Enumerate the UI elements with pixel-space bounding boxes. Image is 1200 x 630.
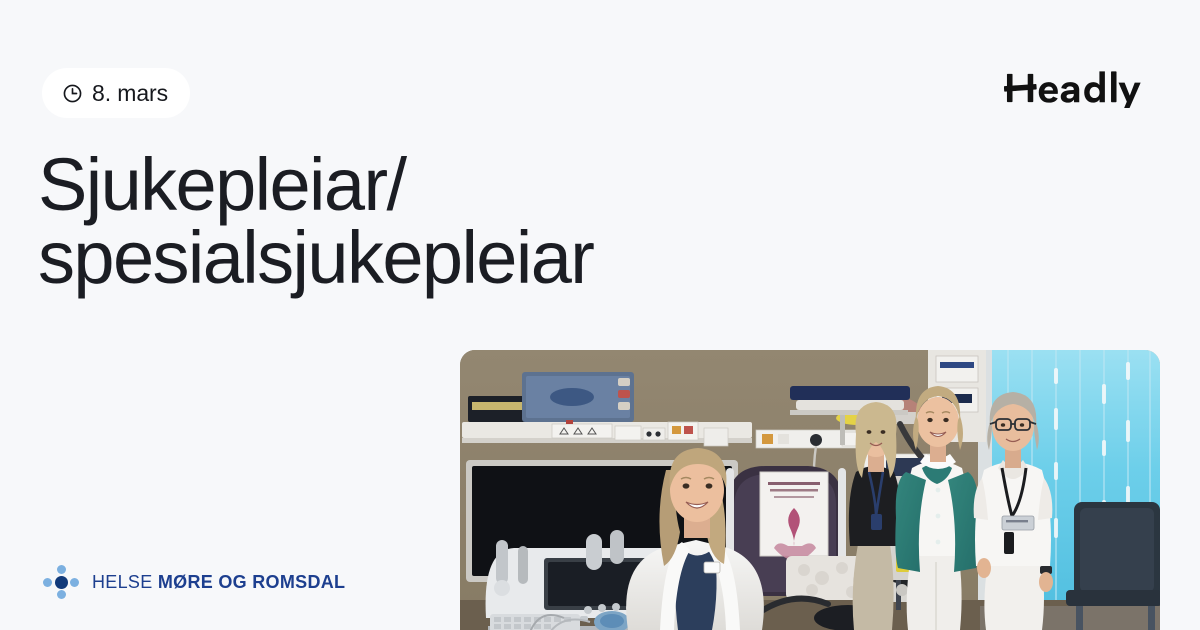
page-title: Sjukepleiar/ spesialsjukepleiar [38,148,738,295]
clock-icon [62,83,83,104]
organization-name-light: HELSE [92,572,153,592]
date-label: 8. mars [92,82,168,105]
headly-logo[interactable] [1004,66,1160,110]
hospital-room-photo-illustration [460,350,1160,630]
headly-wordmark-icon [1004,68,1160,108]
organization-name: HELSE MØRE OG ROMSDAL [92,573,345,591]
article-photo [460,350,1160,630]
date-badge: 8. mars [42,68,190,118]
organization-logo: HELSE MØRE OG ROMSDAL [41,562,345,602]
organization-name-bold: MØRE OG ROMSDAL [158,572,346,592]
helse-dots-icon [41,562,81,602]
